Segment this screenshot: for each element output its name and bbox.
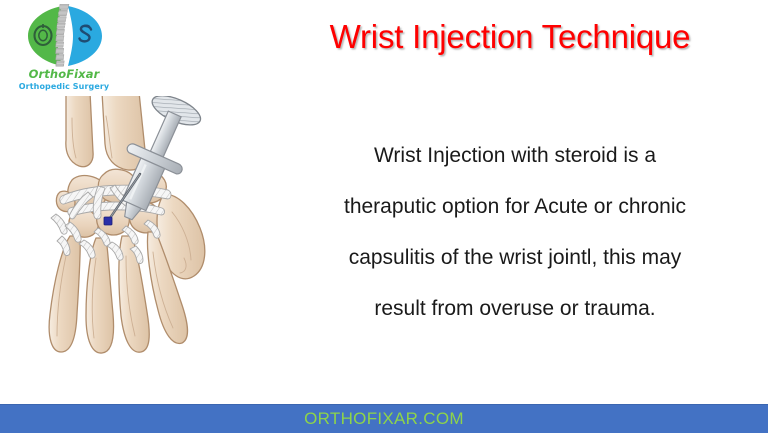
wrist-injection-illustration: [36, 96, 232, 354]
body-line-4: result from overuse or trauma.: [280, 283, 750, 334]
logo-tagline: Orthopedic Surgery: [8, 82, 120, 91]
footer-website-label: ORTHOFIXAR.COM: [0, 405, 768, 433]
logo-mark-icon: [26, 4, 104, 68]
orthofixar-logo: OrthoFixar Orthopedic Surgery: [8, 4, 120, 100]
logo-wordmark: OrthoFixar: [8, 68, 120, 81]
slide-canvas: OrthoFixar Orthopedic Surgery Wrist Inje…: [0, 0, 768, 432]
footer-bar: ORTHOFIXAR.COM: [0, 404, 768, 433]
body-line-3: capsulitis of the wrist jointl, this may: [280, 232, 750, 283]
body-line-1: Wrist Injection with steroid is a: [280, 130, 750, 181]
syringe-plunger-rod: [150, 111, 181, 157]
body-line-2: theraputic option for Acute or chronic: [280, 181, 750, 232]
page-title: Wrist Injection Technique: [268, 18, 752, 56]
ulna-bone: [66, 96, 93, 167]
body-text: Wrist Injection with steroid is a therap…: [280, 130, 750, 334]
injection-point: [104, 217, 112, 225]
